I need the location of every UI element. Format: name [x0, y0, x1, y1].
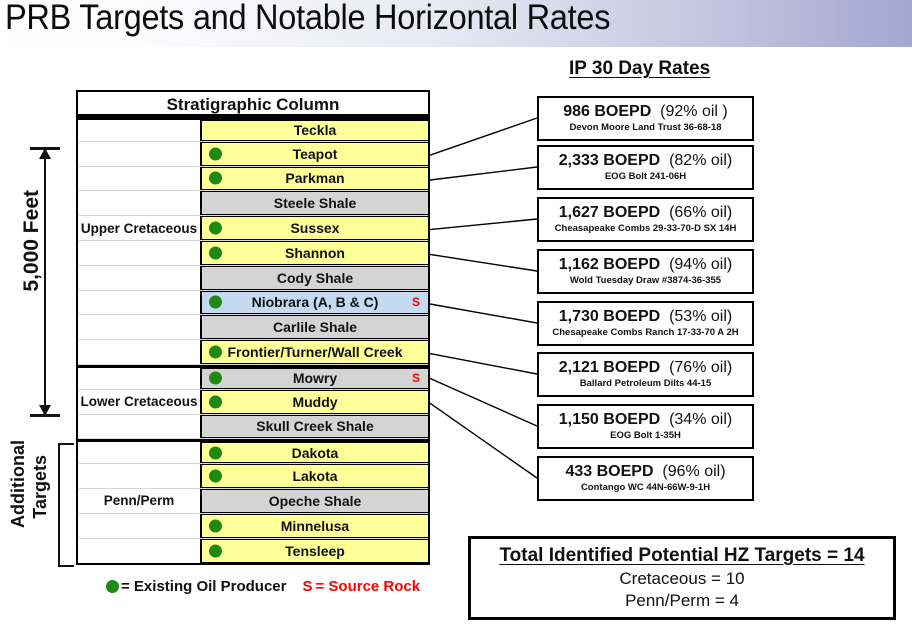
formation-cell[interactable]: Steele Shale [202, 191, 428, 215]
formation-label: Opeche Shale [269, 493, 362, 509]
formation-label: Parkman [285, 170, 344, 186]
formation-label: Muddy [292, 394, 337, 410]
formation-label: Tensleep [285, 543, 345, 559]
ip-rate-value: 2,333 BOEPD [559, 152, 660, 169]
formation-label: Sussex [290, 220, 339, 236]
table-row[interactable]: Cody Shale [78, 266, 428, 291]
table-row[interactable]: Niobrara (A, B & C)S [78, 291, 428, 316]
additional-targets-label-line2: Targets [30, 455, 51, 519]
formation-cell[interactable]: Minnelusa [202, 514, 428, 538]
ip-rate-oil-percent: (92% oil ) [660, 103, 728, 120]
formation-label: Shannon [285, 245, 345, 261]
table-row[interactable]: Shannon [78, 241, 428, 266]
formation-cell[interactable]: Muddy [202, 390, 428, 414]
ip-rate-main-line: 2,333 BOEPD (82% oil) [559, 152, 732, 170]
producer-dot-icon [106, 580, 119, 593]
ip-rate-main-line: 1,162 BOEPD (94% oil) [559, 256, 732, 274]
formation-cell[interactable]: Lakota [202, 464, 428, 488]
arrow-up-icon [39, 148, 51, 159]
ip-rate-oil-percent: (82% oil) [669, 152, 732, 169]
age-cell [78, 120, 202, 141]
table-row[interactable]: Penn/PermOpeche Shale [78, 489, 428, 514]
table-row[interactable]: Carlile Shale [78, 315, 428, 340]
additional-targets-bracket-top-cap [58, 443, 74, 445]
table-row[interactable]: Lower CretaceousMuddy [78, 390, 428, 415]
formation-label: Mowry [293, 370, 337, 386]
age-cell [78, 291, 202, 315]
formation-label: Cody Shale [277, 270, 353, 286]
stratigraphic-column-header: Stratigraphic Column [78, 92, 428, 117]
age-cell [78, 340, 202, 364]
ip-rate-box[interactable]: 2,333 BOEPD (82% oil)EOG Bolt 241-06H [537, 145, 754, 190]
source-rock-symbol: S [412, 295, 420, 309]
ip-rate-oil-percent: (34% oil) [669, 411, 732, 428]
ip-rate-box[interactable]: 433 BOEPD (96% oil)Contango WC 44N-66W-9… [537, 456, 754, 501]
total-pennperm-count: Penn/Perm = 4 [625, 591, 739, 611]
ip-rate-oil-percent: (94% oil) [669, 256, 732, 273]
table-row[interactable]: Minnelusa [78, 514, 428, 539]
producer-dot-icon [209, 519, 222, 532]
total-cretaceous-count: Cretaceous = 10 [619, 569, 744, 589]
formation-cell[interactable]: Parkman [202, 167, 428, 191]
source-rock-symbol: S [412, 371, 420, 385]
age-cell [78, 142, 202, 166]
additional-targets-label-line1: Additional [8, 440, 29, 528]
age-cell [78, 464, 202, 488]
ip-rate-main-line: 2,121 BOEPD (76% oil) [559, 359, 732, 377]
age-cell [78, 191, 202, 215]
formation-cell[interactable]: Skull Creek Shale [202, 415, 428, 439]
formation-label: Teckla [294, 122, 337, 138]
ip-rate-main-line: 433 BOEPD (96% oil) [565, 463, 725, 481]
table-row[interactable]: Lakota [78, 464, 428, 489]
ip-rate-box[interactable]: 2,121 BOEPD (76% oil)Ballard Petroleum D… [537, 352, 754, 397]
stratigraphic-column-table: Stratigraphic Column TecklaTeapotParkman… [76, 90, 430, 565]
thickness-label: 5,000 Feet [20, 190, 44, 292]
table-row[interactable]: MowryS [78, 365, 428, 390]
table-row[interactable]: Tensleep [78, 539, 428, 564]
formation-label: Frontier/Turner/Wall Creek [227, 344, 402, 360]
table-row[interactable]: Dakota [78, 439, 428, 464]
ip-rate-main-line: 1,730 BOEPD (53% oil) [559, 308, 732, 326]
age-cell [78, 315, 202, 339]
ip-rate-box[interactable]: 1,150 BOEPD (34% oil)EOG Bolt 1-35H [537, 404, 754, 449]
ip-rate-well-name: Ballard Petroleum Dilts 44-15 [580, 378, 711, 390]
table-row[interactable]: Teapot [78, 142, 428, 167]
formation-cell[interactable]: Niobrara (A, B & C)S [202, 291, 428, 315]
additional-targets-bracket [58, 443, 60, 567]
formation-label: Teapot [293, 146, 338, 162]
legend: = Existing Oil Producer S = Source Rock [106, 578, 420, 595]
table-row[interactable]: Parkman [78, 167, 428, 192]
ip-rate-value: 1,730 BOEPD [559, 308, 660, 325]
table-row[interactable]: Frontier/Turner/Wall Creek [78, 340, 428, 365]
age-cell [78, 266, 202, 290]
legend-source-rock-text: = Source Rock [315, 578, 420, 595]
formation-label: Carlile Shale [273, 319, 357, 335]
producer-dot-icon [209, 470, 222, 483]
age-cell [78, 241, 202, 265]
producer-dot-icon [209, 544, 222, 557]
formation-cell[interactable]: Carlile Shale [202, 315, 428, 339]
ip-rate-value: 1,150 BOEPD [559, 411, 660, 428]
ip-rate-value: 2,121 BOEPD [559, 359, 660, 376]
producer-dot-icon [209, 222, 222, 235]
age-cell: Penn/Perm [78, 489, 202, 513]
formation-label: Skull Creek Shale [256, 418, 374, 434]
producer-dot-icon [209, 372, 222, 385]
ip-rate-well-name: Chesapeake Combs Ranch 17-33-70 A 2H [552, 327, 738, 339]
age-cell [78, 167, 202, 191]
table-row[interactable]: Steele Shale [78, 191, 428, 216]
page-title: PRB Targets and Notable Horizontal Rates [5, 0, 610, 38]
ip-rate-well-name: EOG Bolt 241-06H [605, 171, 686, 183]
ip-rate-value: 1,627 BOEPD [559, 204, 660, 221]
source-rock-symbol: S [302, 578, 312, 595]
thickness-arrow-line [44, 148, 46, 416]
formation-cell[interactable]: Cody Shale [202, 266, 428, 290]
formation-cell[interactable]: Dakota [202, 442, 428, 463]
formation-label: Steele Shale [274, 195, 357, 211]
formation-cell[interactable]: Sussex [202, 216, 428, 240]
formation-cell[interactable]: Teapot [202, 142, 428, 166]
formation-cell[interactable]: MowryS [202, 368, 428, 389]
total-targets-headline: Total Identified Potential HZ Targets = … [499, 545, 864, 567]
additional-targets-bracket-bottom-cap [58, 565, 74, 567]
ip-rate-well-name: Devon Moore Land Trust 36-68-18 [569, 122, 721, 134]
producer-dot-icon [209, 296, 222, 309]
ip-rate-well-name: Cheasapeake Combs 29-33-70-D SX 14H [555, 223, 737, 235]
formation-label: Lakota [292, 468, 337, 484]
arrow-down-icon [39, 405, 51, 416]
formation-label: Dakota [292, 445, 339, 461]
ip-rate-oil-percent: (76% oil) [669, 359, 732, 376]
table-row[interactable]: Upper CretaceousSussex [78, 216, 428, 241]
producer-dot-icon [209, 147, 222, 160]
producer-dot-icon [209, 172, 222, 185]
ip-rate-box[interactable]: 986 BOEPD (92% oil )Devon Moore Land Tru… [537, 96, 754, 141]
formation-label: Minnelusa [281, 518, 349, 534]
age-cell [78, 368, 202, 389]
table-row[interactable]: Teckla [78, 117, 428, 142]
formation-cell[interactable]: Teckla [202, 120, 428, 141]
formation-cell[interactable]: Shannon [202, 241, 428, 265]
ip-rate-well-name: Wold Tuesday Draw #3874-36-355 [570, 275, 721, 287]
formation-cell[interactable]: Tensleep [202, 539, 428, 564]
ip-rate-oil-percent: (53% oil) [669, 308, 732, 325]
age-cell [78, 539, 202, 564]
producer-dot-icon [209, 346, 222, 359]
producer-dot-icon [209, 395, 222, 408]
age-cell: Upper Cretaceous [78, 216, 202, 240]
ip-rate-well-name: Contango WC 44N-66W-9-1H [581, 482, 710, 494]
stratigraphic-rows-container: TecklaTeapotParkmanSteele ShaleUpper Cre… [78, 117, 428, 563]
ip-rate-main-line: 1,150 BOEPD (34% oil) [559, 411, 732, 429]
producer-dot-icon [209, 246, 222, 259]
table-row[interactable]: Skull Creek Shale [78, 415, 428, 440]
formation-cell[interactable]: Opeche Shale [202, 489, 428, 513]
ip-rate-main-line: 1,627 BOEPD (66% oil) [559, 204, 732, 222]
ip-rate-value: 433 BOEPD [565, 463, 653, 480]
ip-rate-oil-percent: (96% oil) [662, 463, 725, 480]
ip-rate-box[interactable]: 1,162 BOEPD (94% oil)Wold Tuesday Draw #… [537, 249, 754, 294]
ip-rate-value: 1,162 BOEPD [559, 256, 660, 273]
ip-rate-main-line: 986 BOEPD (92% oil ) [563, 103, 728, 121]
title-banner: PRB Targets and Notable Horizontal Rates [0, 0, 912, 47]
ip-rate-box[interactable]: 1,730 BOEPD (53% oil)Chesapeake Combs Ra… [537, 301, 754, 346]
age-cell [78, 442, 202, 463]
ip-rate-box[interactable]: 1,627 BOEPD (66% oil)Cheasapeake Combs 2… [537, 197, 754, 242]
total-targets-box: Total Identified Potential HZ Targets = … [468, 536, 896, 620]
producer-dot-icon [209, 446, 222, 459]
age-cell [78, 415, 202, 439]
ip-rates-title: IP 30 Day Rates [569, 58, 710, 80]
ip-rate-well-name: EOG Bolt 1-35H [610, 430, 681, 442]
legend-producer-text: = Existing Oil Producer [121, 578, 286, 595]
age-cell [78, 514, 202, 538]
formation-cell[interactable]: Frontier/Turner/Wall Creek [202, 340, 428, 364]
ip-rate-value: 986 BOEPD [563, 103, 651, 120]
age-cell: Lower Cretaceous [78, 390, 202, 414]
ip-rate-oil-percent: (66% oil) [669, 204, 732, 221]
formation-label: Niobrara (A, B & C) [252, 294, 379, 310]
